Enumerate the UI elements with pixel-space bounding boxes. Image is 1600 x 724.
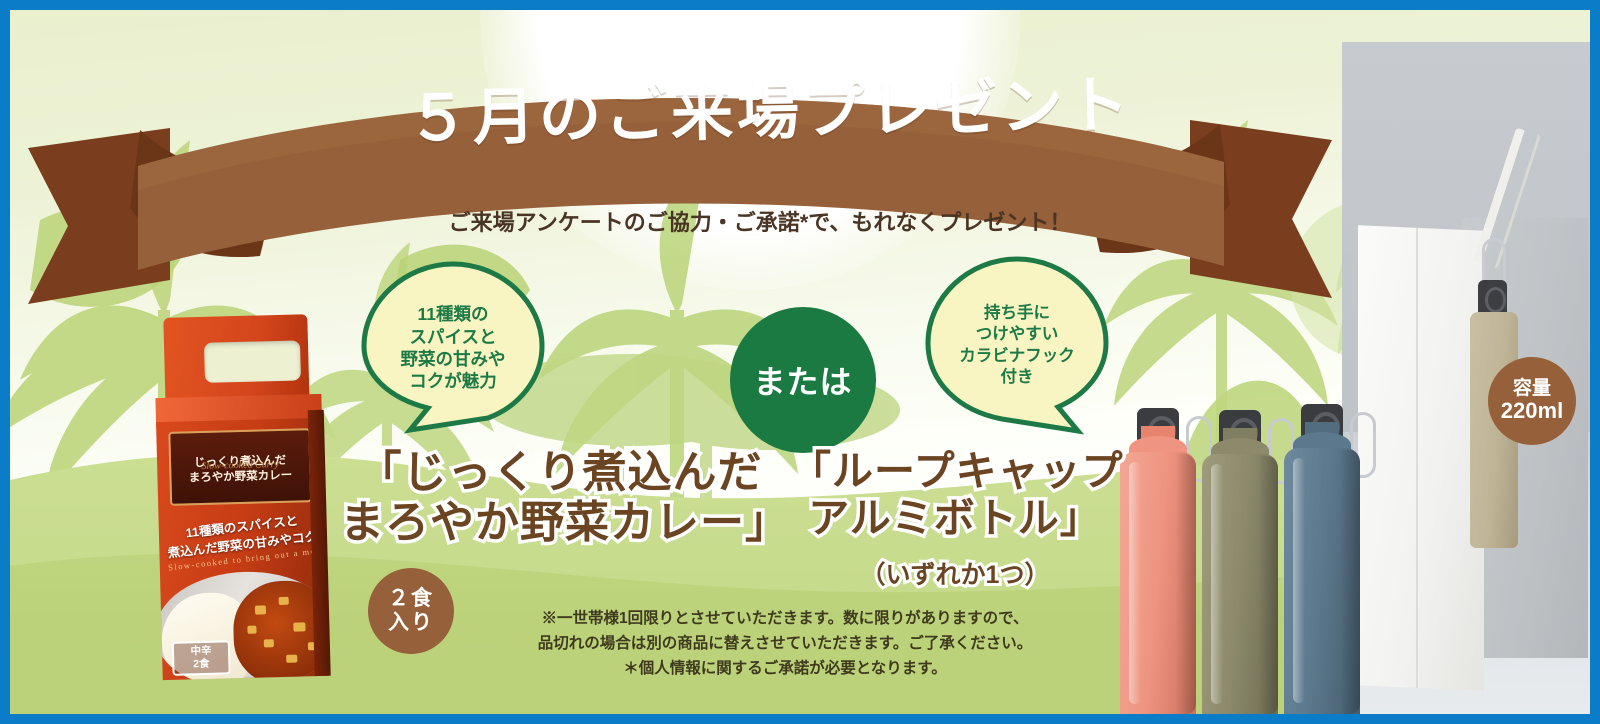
package-front-face: じっくり煮込んだ まろやか野菜カレー Slow-cooked Curry 11種… (156, 418, 329, 680)
package-spice-badge: 中辛 2食 (172, 640, 231, 676)
product-choice-note: （いずれか1つ） (790, 555, 1120, 591)
bubble-left-text: 11種類の スパイスと 野菜の甘みや コクが魅力 (358, 258, 548, 438)
fineprint-line-1: ※一世帯様1回限りとさせていただきます。数に限りがありますので、 (475, 606, 1095, 631)
banner-stage: ５月のご来場プレゼント ご来場アンケートのご協力・ご承諾*で、もれなくプレゼント… (10, 10, 1590, 714)
bubble-left-line1: 11種類の (418, 303, 489, 325)
bottle-highlight (1293, 458, 1305, 703)
bottle-shadow (1258, 456, 1278, 714)
bubble-right-line1: 持ち手に (984, 303, 1050, 324)
bottle-highlight (1129, 462, 1141, 704)
package-label: じっくり煮込んだ まろやか野菜カレー Slow-cooked Curry (168, 428, 312, 506)
bubble-left-line2: スパイスと (410, 326, 497, 348)
bottle-olive (1202, 416, 1278, 714)
product-title-bottle-line1: 「ループキャップ (790, 448, 1120, 495)
or-circle: または (730, 307, 876, 453)
bottle-loop-cap (1478, 280, 1508, 316)
product-title-bottle: 「ループキャップ アルミボトル」 (790, 448, 1120, 541)
food-chunk (247, 626, 256, 634)
servings-count: 2食 (193, 658, 210, 672)
badge-servings: ２食 入り (368, 568, 454, 654)
fineprint-line-2: 品切れの場合は別の商品に替えさせていただきます。ご了承ください。 (475, 631, 1095, 656)
bottle-shadow (1340, 450, 1360, 714)
ribbon-subtitle: ご来場アンケートのご協力・ご承諾*で、もれなくプレゼント！ (310, 205, 1210, 237)
ribbon-title: ５月のご来場プレゼント (329, 74, 1210, 153)
bubble-right-text: 持ち手に つけやすい カラビナフック 付き (922, 253, 1112, 438)
product-title-bottle-line2: アルミボトル」 (790, 495, 1120, 542)
bubble-right-line2: つけやすい (976, 324, 1059, 345)
badge-capacity: 容量 220ml (1488, 357, 1576, 445)
product-title-curry: 「じっくり煮込んだ まろやか野菜カレー」 (340, 448, 780, 548)
food-chunk (293, 622, 305, 631)
fineprint-disclaimer: ※一世帯様1回限りとさせていただきます。数に限りがありますので、 品切れの場合は… (475, 606, 1095, 681)
tote-bag-front (1358, 225, 1484, 691)
bottle-highlight (1211, 464, 1223, 704)
bubble-right-line3: カラビナフック (959, 346, 1075, 367)
bottle-slate (1284, 410, 1360, 714)
badge-capacity-label: 容量 (1513, 378, 1551, 399)
food-chunk (279, 597, 289, 605)
bottle-shadow (1176, 454, 1196, 714)
spice-level: 中辛 (190, 645, 211, 659)
package-handle-panel (163, 314, 309, 404)
fineprint-line-3: ＊個人情報に関するご承諾が必要となります。 (475, 656, 1095, 681)
curry-package-photo: じっくり煮込んだ まろやか野菜カレー Slow-cooked Curry 11種… (145, 314, 334, 681)
campaign-banner: ５月のご来場プレゼント ご来場アンケートのご協力・ご承諾*で、もれなくプレゼント… (0, 0, 1600, 724)
or-circle-label: または (753, 357, 852, 403)
badge-capacity-value: 220ml (1501, 399, 1563, 424)
bubble-bottle-feature: 持ち手に つけやすい カラビナフック 付き (922, 253, 1112, 438)
badge-servings-line1: ２食 (388, 587, 434, 611)
bubble-left-line4: コクが魅力 (409, 370, 497, 392)
bottle-coral (1120, 414, 1196, 714)
bubble-right-line4: 付き (1001, 367, 1034, 388)
tote-bag-seam (1416, 228, 1418, 688)
food-chunk (255, 605, 266, 614)
badge-servings-line2: 入り (388, 611, 434, 635)
food-chunk (286, 655, 297, 663)
package-handle-hole (204, 340, 301, 382)
food-chunk (264, 639, 274, 647)
bubble-left-line3: 野菜の甘みや (401, 348, 506, 370)
product-title-curry-line1: 「じっくり煮込んだ (340, 448, 780, 498)
bubble-curry-feature: 11種類の スパイスと 野菜の甘みや コクが魅力 (358, 258, 548, 438)
product-title-curry-line2: まろやか野菜カレー」 (340, 498, 780, 548)
